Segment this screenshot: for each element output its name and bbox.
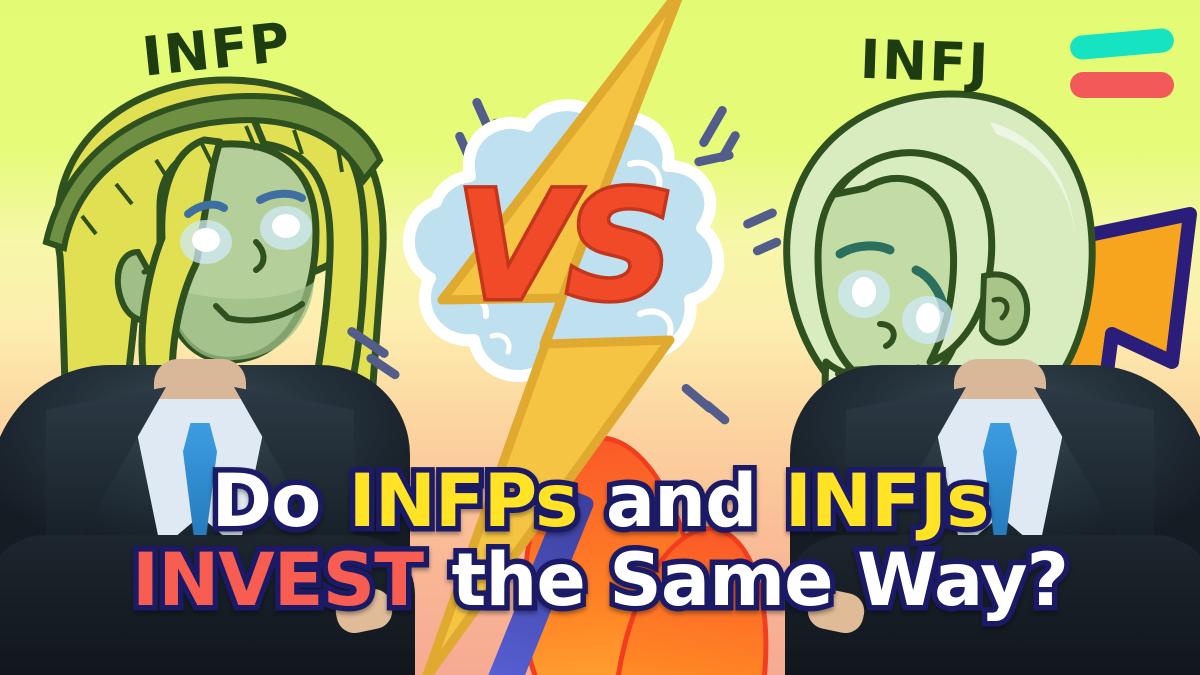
logo-bottom-bar (1070, 72, 1174, 98)
channel-logo[interactable] (1066, 30, 1178, 102)
title-block: Do INFPs and INFJs INVEST the Same Way? (0, 459, 1200, 623)
title-word: and (579, 459, 782, 544)
title-line-1: Do INFPs and INFJs (0, 465, 1200, 538)
vs-text: VS (456, 160, 668, 334)
title-word: INVEST (130, 538, 425, 623)
label-infj: INFJ (859, 28, 991, 96)
vs-label: VS (392, 92, 732, 402)
title-line-2: INVEST the Same Way? (0, 544, 1200, 617)
title-word: INFJs (783, 459, 991, 544)
title-word: the Same Way? (425, 538, 1070, 623)
title-word: INFPs (347, 459, 580, 544)
thumbnail-canvas: INFP INFJ (0, 0, 1200, 675)
logo-top-bar (1069, 28, 1175, 61)
title-word: Do (209, 459, 346, 544)
